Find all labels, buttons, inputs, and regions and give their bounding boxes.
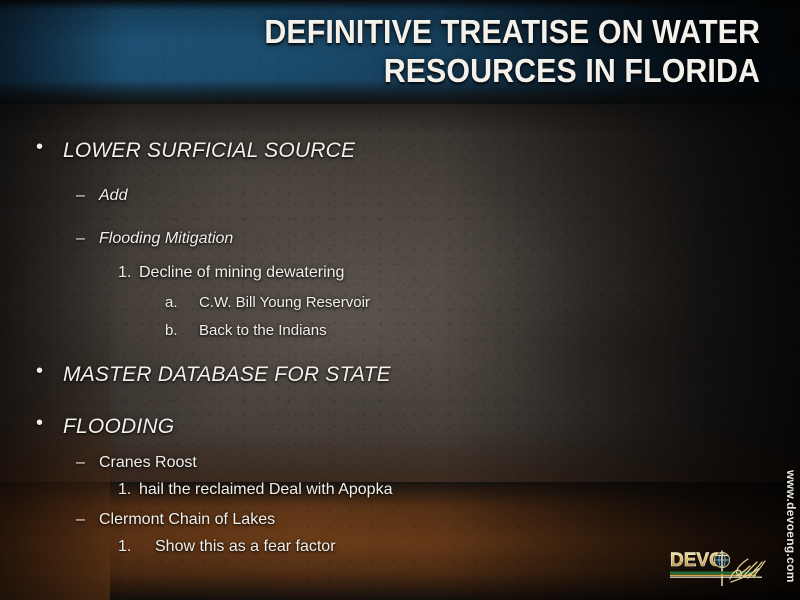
bullet-text: Back to the Indians bbox=[199, 318, 700, 343]
bullet-marker: – bbox=[76, 507, 85, 532]
bullet-marker: – bbox=[76, 450, 85, 475]
slide-title: DEFINITIVE TREATISE ON WATER RESOURCES I… bbox=[98, 12, 760, 90]
bullet-text: Flooding Mitigation bbox=[99, 226, 700, 252]
bullet-text: Show this as a fear factor bbox=[155, 534, 700, 560]
bullet-item: – Flooding Mitigation bbox=[0, 226, 700, 260]
bullet-item: • LOWER SURFICIAL SOURCE bbox=[0, 136, 700, 174]
bullet-text: FLOODING bbox=[63, 412, 700, 442]
bullet-text: Clermont Chain of Lakes bbox=[99, 507, 700, 532]
bullet-marker: – bbox=[76, 226, 85, 252]
bullet-marker: • bbox=[36, 136, 43, 159]
presentation-slide: DEFINITIVE TREATISE ON WATER RESOURCES I… bbox=[0, 0, 800, 600]
bullet-item: 1. Decline of mining dewatering bbox=[0, 260, 700, 290]
bullet-marker: 1. bbox=[118, 477, 131, 503]
spacer bbox=[0, 398, 700, 412]
bullet-marker: 1. bbox=[118, 260, 131, 286]
bullet-item: a. C.W. Bill Young Reservoir bbox=[0, 290, 700, 318]
bullet-item: • FLOODING bbox=[0, 412, 700, 450]
bullet-item: 1. Show this as a fear factor bbox=[0, 534, 700, 564]
spacer bbox=[0, 346, 700, 360]
spacer bbox=[0, 217, 700, 226]
logo-gold-bar bbox=[670, 575, 756, 577]
bullet-marker: • bbox=[36, 412, 43, 435]
bullet-text: Cranes Roost bbox=[99, 450, 700, 475]
bullet-text: LOWER SURFICIAL SOURCE bbox=[63, 136, 700, 166]
bullet-marker: • bbox=[36, 360, 43, 383]
bullet-text: Decline of mining dewatering bbox=[139, 260, 700, 286]
bullet-text: hail the reclaimed Deal with Apopka bbox=[139, 477, 700, 503]
logo-script-text bbox=[730, 559, 765, 582]
bullet-text: C.W. Bill Young Reservoir bbox=[199, 290, 700, 315]
bullet-text: MASTER DATABASE FOR STATE bbox=[63, 360, 700, 390]
devo-engineering-logo: DEVO bbox=[668, 546, 772, 588]
bullet-item: – Clermont Chain of Lakes bbox=[0, 507, 700, 534]
bullet-item: – Cranes Roost bbox=[0, 450, 700, 477]
bullet-marker: a. bbox=[165, 290, 178, 315]
bullet-item: 1. hail the reclaimed Deal with Apopka bbox=[0, 477, 700, 507]
bullet-marker: 1. bbox=[118, 534, 131, 560]
bullet-item: b. Back to the Indians bbox=[0, 318, 700, 346]
bullet-item: – Add bbox=[0, 183, 700, 217]
slide-body-content: • LOWER SURFICIAL SOURCE – Add – Floodin… bbox=[0, 136, 700, 564]
spacer bbox=[0, 174, 700, 183]
bullet-text: Add bbox=[99, 183, 700, 209]
website-url-vertical: www.devoeng.com bbox=[784, 470, 798, 583]
bullet-marker: – bbox=[76, 183, 85, 209]
bullet-item: • MASTER DATABASE FOR STATE bbox=[0, 360, 700, 398]
bullet-marker: b. bbox=[165, 318, 178, 343]
